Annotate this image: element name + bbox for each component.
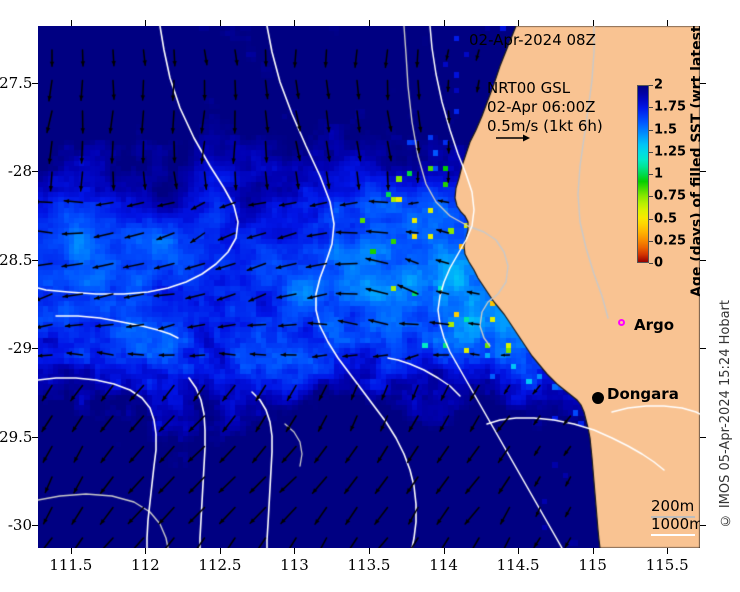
y-axis-tick-label-0: -27.5: [0, 74, 32, 92]
colorbar-tick-label-4: 1: [654, 167, 663, 182]
x-axis-tick: [145, 548, 146, 554]
sst-age-map-figure: 02-Apr-2024 08Z NRT00 GSL 02-Apr 06:00Z …: [0, 0, 740, 592]
y-axis-tick-right: [700, 437, 706, 438]
y-axis-tick-right: [700, 348, 706, 349]
colorbar-title-text: Age (days) of filled SST (wrt latest): [689, 26, 700, 297]
dongara-marker-icon[interactable]: [592, 392, 604, 404]
y-axis-tick: [32, 525, 38, 526]
bathymetry-key-200m-label: 200m: [651, 497, 700, 515]
x-axis-tick: [444, 548, 445, 554]
dongara-marker-label: Dongara: [607, 385, 679, 403]
colorbar-tick-label-6: 0.5: [654, 211, 677, 226]
colorbar-tick: [649, 263, 653, 264]
x-axis-tick-top: [593, 20, 594, 26]
colorbar-tick-label-8: 0: [654, 256, 663, 271]
x-axis-tick-top: [220, 20, 221, 26]
y-axis-tick-right: [700, 83, 706, 84]
x-axis-tick-top: [667, 20, 668, 26]
x-axis-tick-top: [71, 20, 72, 26]
x-axis-tick: [294, 548, 295, 554]
y-axis-tick: [32, 83, 38, 84]
bathymetry-key-1000m-rule: [651, 534, 695, 536]
x-axis-tick-label-0: 111.5: [49, 556, 92, 574]
y-axis-tick: [32, 260, 38, 261]
y-axis-tick: [32, 348, 38, 349]
x-axis-tick-top: [294, 20, 295, 26]
y-axis-tick-label-1: -28: [0, 162, 32, 180]
map-plot-area[interactable]: 02-Apr-2024 08Z NRT00 GSL 02-Apr 06:00Z …: [38, 26, 700, 548]
x-axis-tick-top: [369, 20, 370, 26]
x-axis-tick-label-8: 115.5: [646, 556, 689, 574]
x-axis-tick: [667, 548, 668, 554]
argo-marker-label: Argo: [634, 316, 674, 334]
x-axis-tick-top: [444, 20, 445, 26]
colorbar-tick: [649, 196, 653, 197]
x-axis-tick-label-5: 114: [429, 556, 458, 574]
credit-text: © IMOS 05-Apr-2024 15:24 Hobart: [718, 300, 733, 527]
colorbar-tick: [649, 219, 653, 220]
y-axis-tick: [32, 437, 38, 438]
x-axis-tick-label-1: 112: [131, 556, 160, 574]
y-axis-tick: [32, 171, 38, 172]
colorbar-tick: [649, 152, 653, 153]
y-axis-tick-label-3: -29: [0, 339, 32, 357]
colorbar-tick-label-0: 2: [654, 78, 663, 93]
bathymetry-key: 200m 1000m: [651, 497, 700, 533]
x-axis-tick: [369, 548, 370, 554]
colorbar-tick: [649, 130, 653, 131]
colorbar-tick-label-5: 0.75: [654, 189, 686, 204]
vector-reference-arrow-icon: [496, 133, 530, 143]
x-axis-tick-label-3: 113: [280, 556, 309, 574]
y-axis-tick-label-5: -30: [0, 516, 32, 534]
colorbar-tick: [649, 107, 653, 108]
y-axis-tick-right: [700, 525, 706, 526]
y-axis-tick-label-4: -29.5: [0, 428, 32, 446]
vector-legend-time: 02-Apr 06:00Z: [487, 98, 603, 117]
colorbar-tick-label-2: 1.5: [654, 122, 677, 137]
argo-marker-icon[interactable]: [618, 319, 625, 326]
x-axis-tick-label-2: 112.5: [198, 556, 241, 574]
colorbar-gradient: [637, 85, 649, 263]
x-axis-tick: [593, 548, 594, 554]
colorbar-tick: [649, 241, 653, 242]
credit-attribution: © IMOS 05-Apr-2024 15:24 Hobart: [718, 300, 738, 570]
x-axis-tick-top: [145, 20, 146, 26]
y-axis-tick-right: [700, 171, 706, 172]
colorbar-tick-label-7: 0.25: [654, 233, 686, 248]
colorbar-tick-label-1: 1.75: [654, 100, 686, 115]
y-axis-tick-label-2: -28.5: [0, 251, 32, 269]
x-axis-tick-label-6: 114.5: [497, 556, 540, 574]
y-axis-tick-right: [700, 260, 706, 261]
vector-legend: NRT00 GSL 02-Apr 06:00Z 0.5m/s (1kt 6h): [487, 79, 603, 136]
colorbar-tick-label-3: 1.25: [654, 144, 686, 159]
colorbar-tick: [649, 174, 653, 175]
colorbar-tick: [649, 85, 653, 86]
colorbar-title: Age (days) of filled SST (wrt latest): [686, 26, 700, 298]
x-axis-tick: [220, 548, 221, 554]
bathymetry-key-200m-rule: [651, 516, 695, 518]
vector-legend-source: NRT00 GSL: [487, 79, 603, 98]
map-timestamp-label: 02-Apr-2024 08Z: [469, 31, 596, 49]
x-axis-tick-label-7: 115: [578, 556, 607, 574]
x-axis-tick-label-4: 113.5: [348, 556, 391, 574]
x-axis-tick: [71, 548, 72, 554]
x-axis-tick-top: [518, 20, 519, 26]
x-axis-tick: [518, 548, 519, 554]
